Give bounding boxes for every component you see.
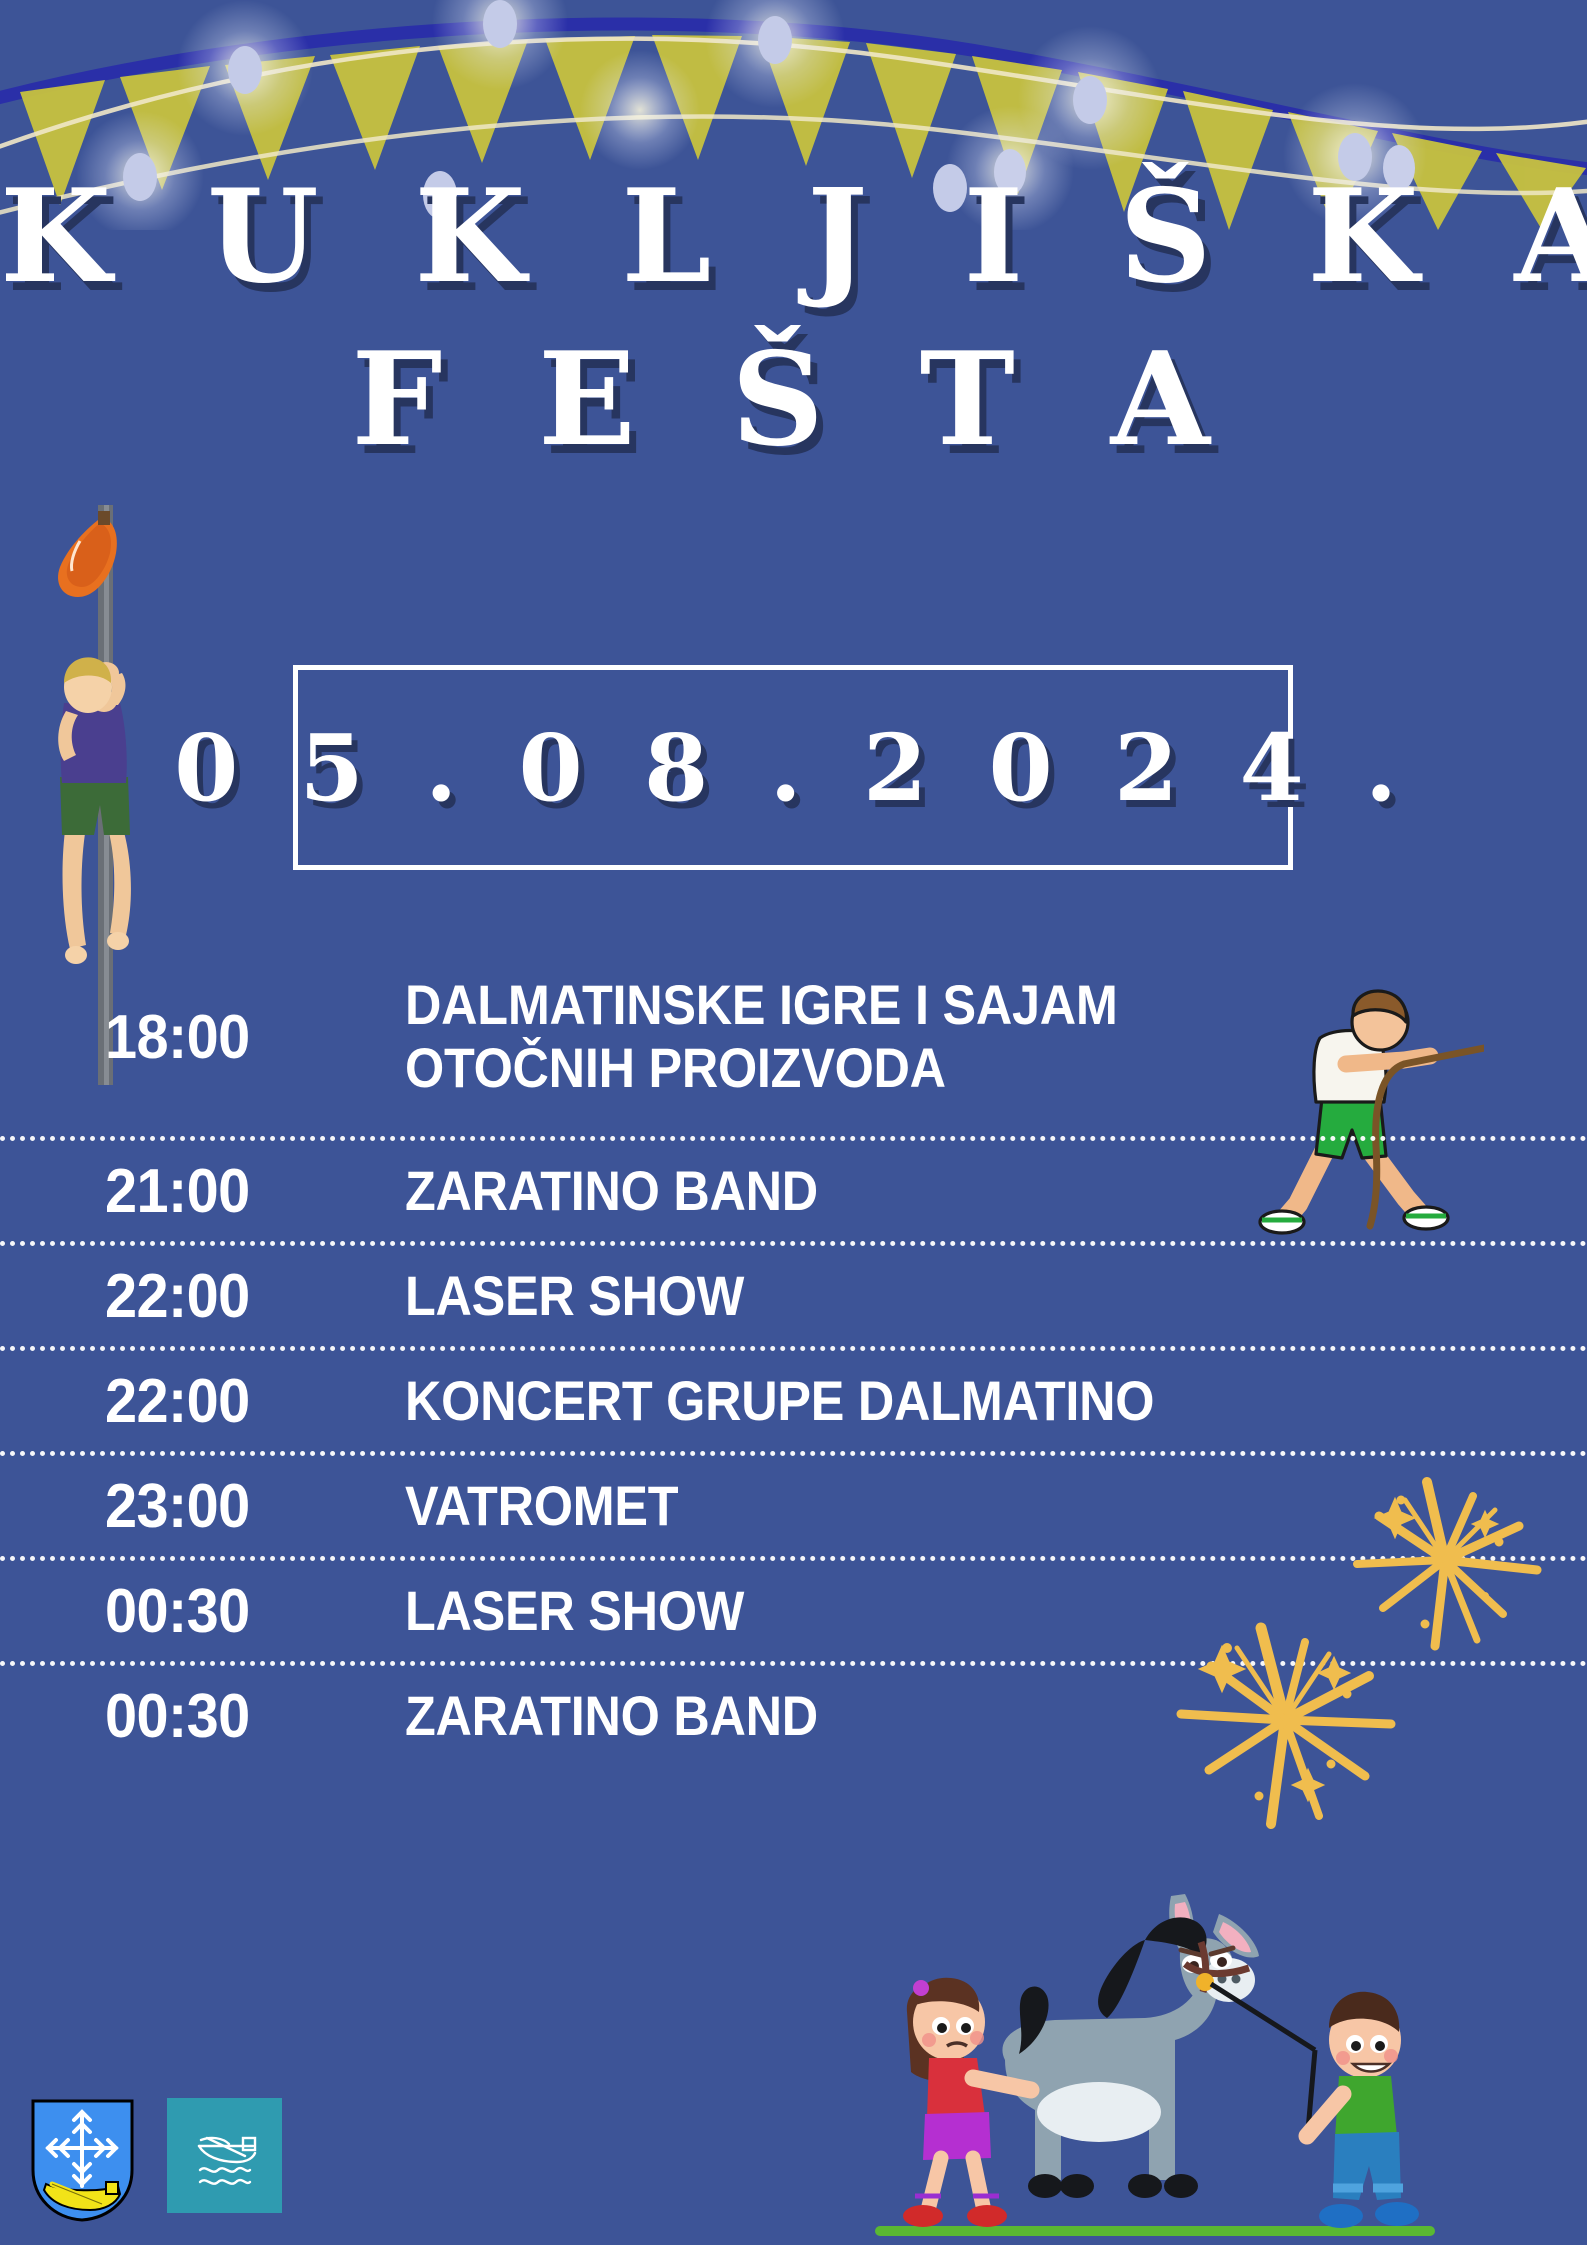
schedule-row: 23:00 VATROMET — [0, 1456, 1587, 1556]
poster-title: K U K L J I Š K A F E Š T A — [0, 175, 1587, 464]
title-line-1: K U K L J I Š K A — [0, 175, 1587, 300]
boy-pulling — [1307, 1992, 1419, 2228]
row-time: 00:30 — [105, 1681, 384, 1752]
row-event: ZARATINO BAND — [405, 1685, 818, 1748]
row-event: LASER SHOW — [405, 1265, 744, 1328]
title-line-2: F E Š T A — [0, 338, 1587, 463]
row-time: 00:30 — [105, 1576, 384, 1647]
row-event: LASER SHOW — [405, 1580, 744, 1643]
schedule-row: 22:00 LASER SHOW — [0, 1246, 1587, 1346]
girl-pushing — [903, 1978, 1031, 2227]
logos-row — [30, 2098, 282, 2223]
row-time: 22:00 — [105, 1366, 384, 1437]
schedule-row: 18:00 DALMATINSKE IGRE I SAJAM OTOČNIH P… — [0, 938, 1587, 1136]
schedule-row: 00:30 ZARATINO BAND — [0, 1666, 1587, 1766]
schedule-row: 22:00 KONCERT GRUPE DALMATINO — [0, 1351, 1587, 1451]
schedule-row: 00:30 LASER SHOW — [0, 1561, 1587, 1661]
row-time: 23:00 — [105, 1471, 384, 1542]
event-date: 0 5 . 0 8 . 2 0 2 4 . — [174, 714, 1412, 822]
row-time: 22:00 — [105, 1261, 384, 1332]
coat-of-arms-icon — [30, 2098, 135, 2223]
row-event: ZARATINO BAND — [405, 1160, 818, 1223]
children-with-donkey-icon — [845, 1880, 1465, 2245]
date-box: 0 5 . 0 8 . 2 0 2 4 . — [293, 665, 1293, 870]
donkey — [1002, 1894, 1315, 2198]
row-event: KONCERT GRUPE DALMATINO — [405, 1370, 1154, 1433]
partner-logo-icon — [167, 2098, 282, 2213]
schedule-row: 21:00 ZARATINO BAND — [0, 1141, 1587, 1241]
festival-poster: K U K L J I Š K A F E Š T A 0 5 . 0 8 . … — [0, 0, 1587, 2245]
row-event: VATROMET — [405, 1475, 678, 1538]
schedule-list: 18:00 DALMATINSKE IGRE I SAJAM OTOČNIH P… — [0, 938, 1587, 1766]
row-time: 21:00 — [105, 1156, 384, 1227]
row-event: DALMATINSKE IGRE I SAJAM OTOČNIH PROIZVO… — [405, 974, 1118, 1099]
row-time: 18:00 — [105, 1002, 384, 1073]
